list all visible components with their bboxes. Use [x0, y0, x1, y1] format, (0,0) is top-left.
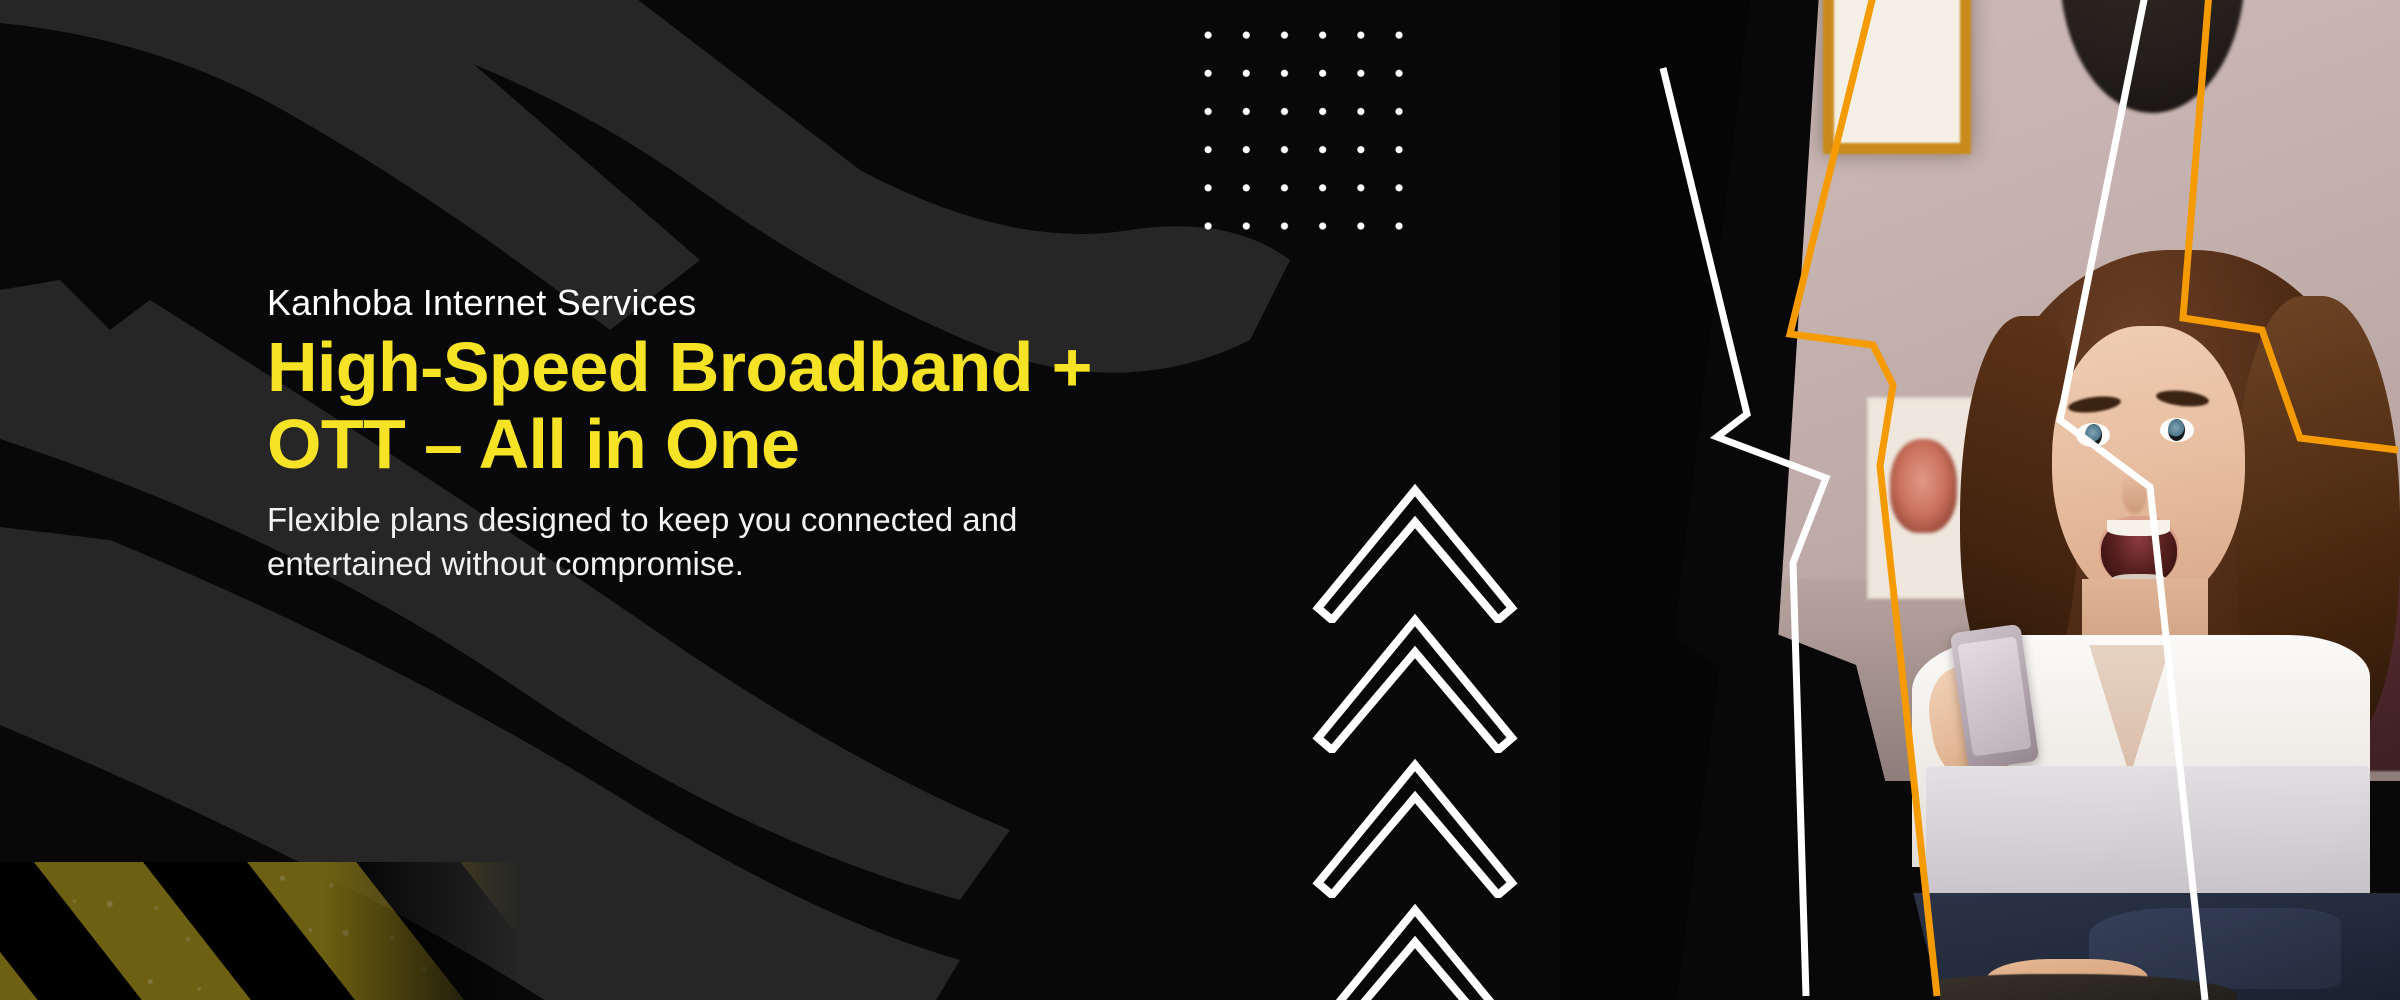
hero-banner: Kanhoba Internet Services High-Speed Bro…: [0, 0, 2400, 1000]
orange-polyline: [1783, 0, 1937, 996]
white-polyline-left: [1663, 68, 1826, 996]
decorative-polylines: [0, 0, 2400, 1000]
white-polyline-right: [2060, 0, 2205, 1000]
orange-polyline-lower: [2170, 0, 2398, 450]
